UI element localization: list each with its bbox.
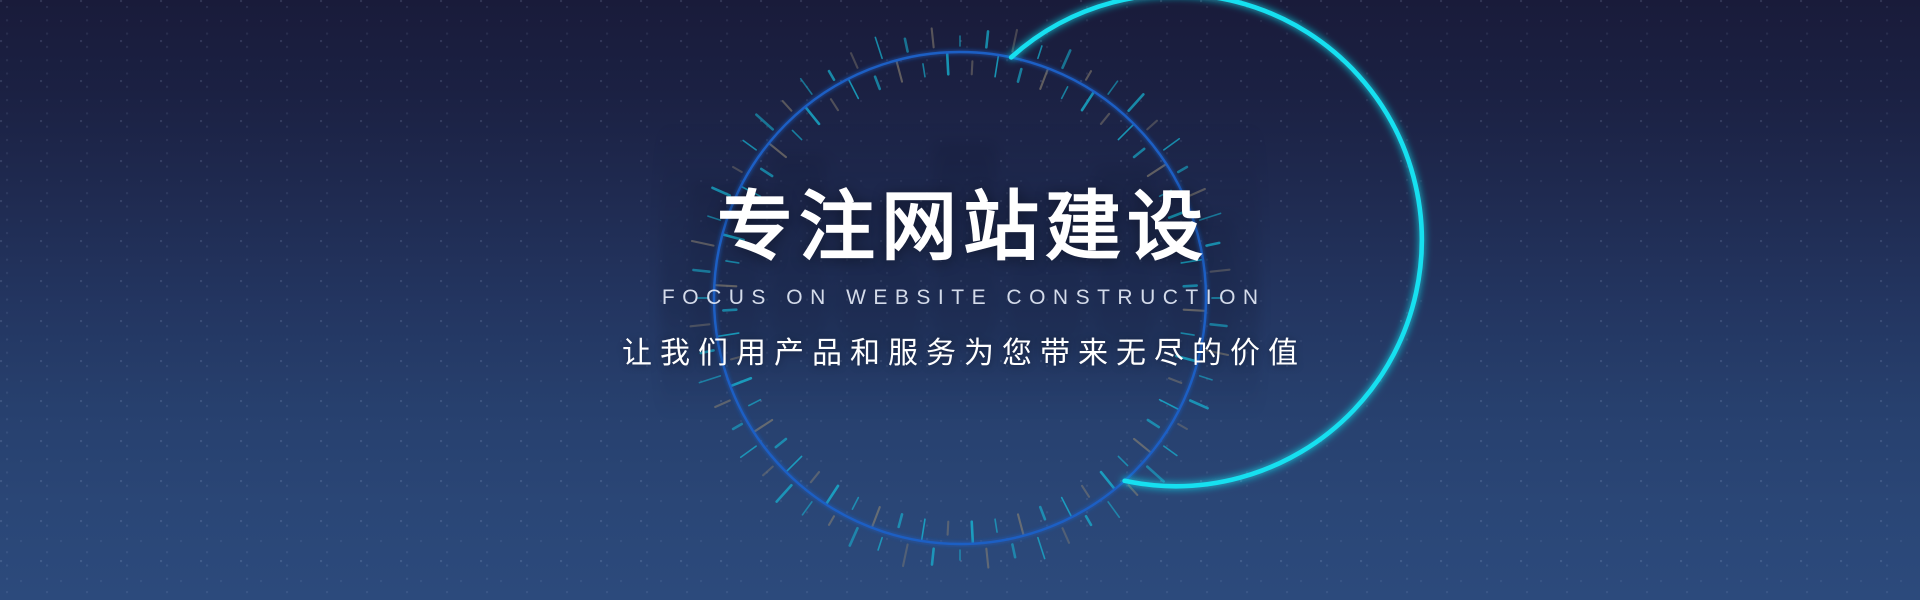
hero-banner: 专注网站建设 FOCUS ON WEBSITE CONSTRUCTION 让我们… — [0, 0, 1920, 600]
banner-subline: FOCUS ON WEBSITE CONSTRUCTION — [0, 286, 1920, 310]
banner-headline: 专注网站建设 — [0, 186, 1920, 270]
banner-tagline: 让我们用产品和服务为您带来无尽的价值 — [0, 336, 1920, 372]
banner-text-block: 专注网站建设 FOCUS ON WEBSITE CONSTRUCTION 让我们… — [0, 186, 1920, 372]
